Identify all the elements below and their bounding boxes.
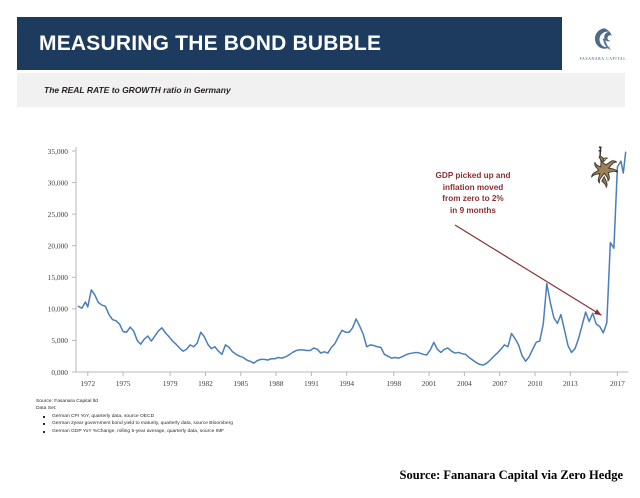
y-axis-tick-label: 5,000 xyxy=(51,336,68,345)
x-axis-tick-label: 2004 xyxy=(457,379,472,388)
header-band: MEASURING THE BOND BUBBLE xyxy=(17,17,562,70)
chart-container: 0,0005,00010,00015,00020,00025,00030,000… xyxy=(0,118,640,393)
y-axis-tick-label: 30,000 xyxy=(48,178,69,187)
brand-logo: FASANARA CAPITAL xyxy=(566,17,640,70)
y-axis-tick-label: 20,000 xyxy=(48,242,69,251)
x-axis-tick-label: 1994 xyxy=(339,379,354,388)
fasanara-bird-logo-icon xyxy=(590,26,616,54)
x-axis-tick-label: 1982 xyxy=(198,379,213,388)
wile-e-coyote-figure-icon xyxy=(586,146,628,198)
y-axis-tick-label: 25,000 xyxy=(48,210,69,219)
page-title: MEASURING THE BOND BUBBLE xyxy=(17,32,381,56)
y-axis-tick-label: 35,000 xyxy=(48,147,69,156)
x-axis-tick-label: 1991 xyxy=(304,379,319,388)
x-axis-tick-label: 2001 xyxy=(422,379,437,388)
y-axis-tick-label: 15,000 xyxy=(48,273,69,282)
footnote-source: Source: Fasanara Capital ltd xyxy=(36,398,496,405)
list-item: German CPI YoY, quarterly data, source O… xyxy=(36,413,496,420)
subtitle-text: The REAL RATE to GROWTH ratio in Germany xyxy=(17,85,231,95)
annotation-line-3: from zero to 2% xyxy=(404,193,542,205)
annotation-line-4: in 9 months xyxy=(404,205,542,217)
slide: MEASURING THE BOND BUBBLE FASANARA CAPIT… xyxy=(0,0,640,498)
y-axis-tick-label: 0,000 xyxy=(51,368,68,377)
subtitle-band: The REAL RATE to GROWTH ratio in Germany xyxy=(17,73,625,107)
x-axis-tick-label: 2017 xyxy=(610,379,625,388)
brand-logo-text: FASANARA CAPITAL xyxy=(580,57,627,61)
x-axis-tick-label: 1975 xyxy=(116,379,131,388)
list-item: German 2year government bond yield to ma… xyxy=(36,420,496,427)
footnotes: Source: Fasanara Capital ltd Data Set: G… xyxy=(36,398,496,435)
x-axis-tick-label: 1972 xyxy=(80,379,95,388)
chart-series-line xyxy=(78,152,625,365)
x-axis-tick-label: 1988 xyxy=(269,379,284,388)
list-item: German GDP YoY %Change, rolling 5-year a… xyxy=(36,428,496,435)
chart-annotation: GDP picked up and inflation moved from z… xyxy=(404,170,542,216)
x-axis-tick-label: 1998 xyxy=(386,379,401,388)
x-axis-tick-label: 2007 xyxy=(492,379,507,388)
footnote-list: German CPI YoY, quarterly data, source O… xyxy=(36,413,496,435)
y-axis-tick-label: 10,000 xyxy=(48,305,69,314)
annotation-arrow-icon xyxy=(455,225,601,315)
x-axis-tick-label: 2013 xyxy=(563,379,578,388)
x-axis-tick-label: 1985 xyxy=(233,379,248,388)
footnote-dataset-label: Data Set: xyxy=(36,405,496,412)
source-credit: Source: Fananara Capital via Zero Hedge xyxy=(0,468,623,483)
annotation-line-2: inflation moved xyxy=(404,182,542,194)
line-chart: 0,0005,00010,00015,00020,00025,00030,000… xyxy=(0,118,640,393)
x-axis-tick-label: 1979 xyxy=(163,379,178,388)
x-axis-tick-label: 2010 xyxy=(528,379,543,388)
annotation-line-1: GDP picked up and xyxy=(404,170,542,182)
